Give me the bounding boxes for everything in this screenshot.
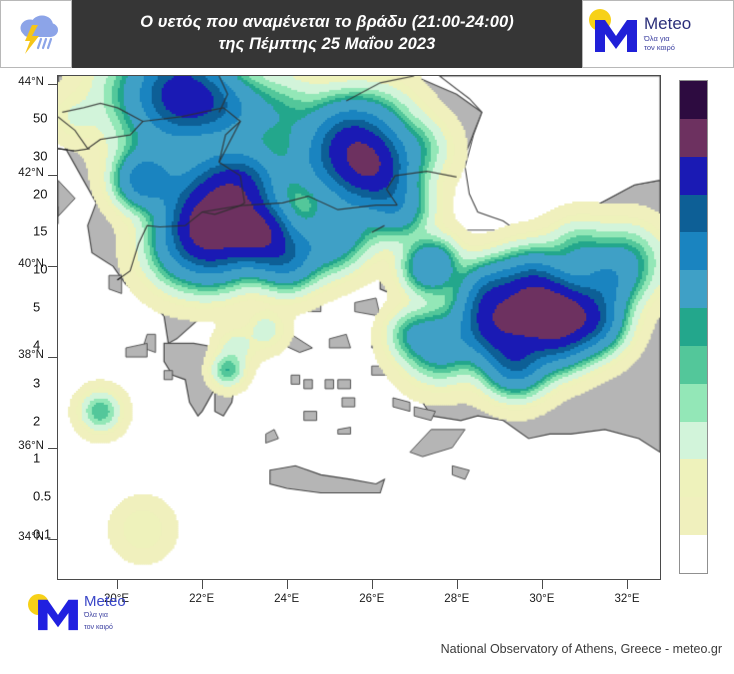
page-title-line-2: της Πέμπτης 25 Μαΐου 2023	[140, 34, 514, 56]
colorbar-tick-label: 0.5	[33, 489, 51, 504]
longitude-tick-label: 30°E	[529, 593, 554, 605]
latitude-tick-mark	[48, 84, 57, 85]
colorbar-tick-label: 1	[33, 451, 40, 466]
longitude-tick-label: 24°E	[274, 593, 299, 605]
weather-icon-box	[0, 0, 72, 68]
longitude-tick-mark	[542, 580, 543, 589]
longitude-tick-label: 32°E	[614, 593, 639, 605]
meteo-brand-text: Meteo	[84, 594, 126, 609]
colorbar-band	[680, 119, 707, 157]
colorbar-band	[680, 308, 707, 346]
map-plot-area[interactable]	[57, 75, 661, 580]
colorbar-band	[680, 422, 707, 460]
meteo-logo-header[interactable]: Meteo Όλα για τον καιρό	[583, 1, 691, 67]
latitude-tick-label: 44°N	[18, 76, 44, 88]
colorbar-band	[680, 497, 707, 535]
colorbar-tick-label: 50	[33, 110, 47, 125]
header-bar: Ο υετός που αναμένεται το βράδυ (21:00-2…	[0, 0, 734, 68]
precipitation-colorbar	[679, 80, 708, 574]
colorbar-tick-label: 0.1	[33, 527, 51, 542]
colorbar-tick-label: 5	[33, 300, 40, 315]
precipitation-forecast-figure: 44°N42°N40°N38°N36°N34°N 20°E22°E24°E26°…	[0, 68, 734, 674]
meteo-logo-footer[interactable]: Meteo Όλα για τον καιρό	[28, 590, 168, 636]
meteo-brand-text: Meteo	[644, 15, 691, 32]
page-title-line-1: Ο υετός που αναμένεται το βράδυ (21:00-2…	[140, 12, 514, 34]
meteo-tagline-line-2: τον καιρό	[644, 44, 691, 53]
longitude-tick-mark	[117, 580, 118, 589]
latitude-tick-mark	[48, 175, 57, 176]
colorbar-tick-label: 3	[33, 375, 40, 390]
longitude-tick-label: 28°E	[444, 593, 469, 605]
colorbar-band	[680, 346, 707, 384]
colorbar-band	[680, 535, 707, 573]
longitude-tick-mark	[457, 580, 458, 589]
colorbar-band	[680, 81, 707, 119]
latitude-tick-mark	[48, 357, 57, 358]
latitude-tick-label: 42°N	[18, 167, 44, 179]
latitude-tick-mark	[48, 266, 57, 267]
longitude-tick-mark	[372, 580, 373, 589]
meteo-tagline-line-2: τον καιρό	[84, 624, 126, 632]
colorbar-tick-label: 15	[33, 224, 47, 239]
meteo-tagline-line-1: Όλα για	[84, 612, 126, 620]
colorbar-tick-label: 2	[33, 413, 40, 428]
longitude-tick-label: 26°E	[359, 593, 384, 605]
footer-logo-box[interactable]: Meteo Όλα για τον καιρό	[28, 590, 168, 636]
header-logo-box[interactable]: Meteo Όλα για τον καιρό	[582, 0, 734, 68]
colorbar-tick-label: 20	[33, 186, 47, 201]
colorbar-band	[680, 232, 707, 270]
precipitation-map-canvas[interactable]	[58, 76, 660, 579]
meteo-m-monogram-icon	[36, 594, 80, 632]
colorbar-band	[680, 195, 707, 233]
attribution-text: National Observatory of Athens, Greece -…	[441, 642, 722, 656]
colorbar-tick-label: 4	[33, 337, 40, 352]
colorbar-tick-label: 10	[33, 262, 47, 277]
longitude-tick-mark	[287, 580, 288, 589]
colorbar-band	[680, 384, 707, 422]
meteo-m-monogram-icon	[593, 14, 639, 54]
colorbar-band	[680, 459, 707, 497]
page-title: Ο υετός που αναμένεται το βράδυ (21:00-2…	[134, 12, 520, 56]
latitude-tick-mark	[48, 448, 57, 449]
longitude-tick-mark	[202, 580, 203, 589]
colorbar-band	[680, 157, 707, 195]
longitude-tick-label: 22°E	[189, 593, 214, 605]
longitude-tick-mark	[627, 580, 628, 589]
thunderstorm-rain-icon	[12, 11, 60, 57]
header-title-box: Ο υετός που αναμένεται το βράδυ (21:00-2…	[72, 0, 582, 68]
colorbar-tick-label: 30	[33, 148, 47, 163]
colorbar-band	[680, 270, 707, 308]
